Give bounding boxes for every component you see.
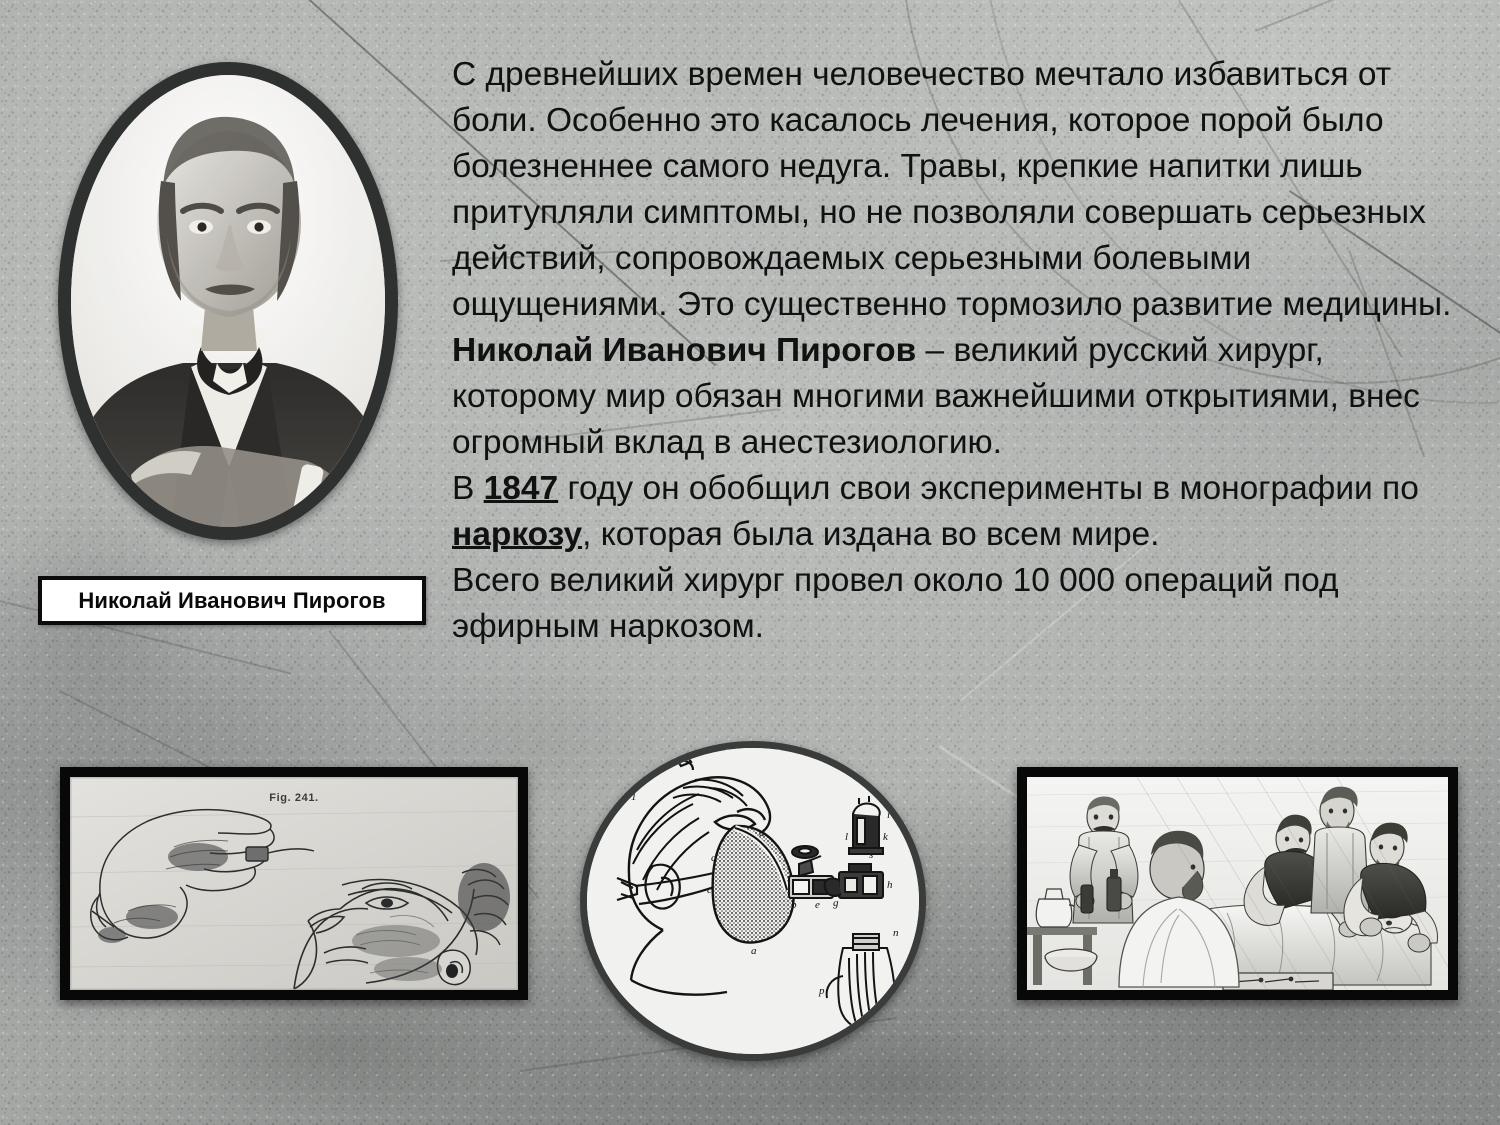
portrait-caption-box: Николай Иванович Пирогов xyxy=(38,576,426,625)
svg-text:p: p xyxy=(818,985,825,997)
svg-text:e: e xyxy=(815,899,820,911)
svg-text:a: a xyxy=(751,945,757,957)
portrait-photo-icon xyxy=(71,75,385,527)
svg-text:c: c xyxy=(707,884,712,896)
narcosis-highlight: наркозу xyxy=(452,516,582,553)
portrait-caption-label: Николай Иванович Пирогов xyxy=(78,588,385,614)
year-1847-highlight: 1847 xyxy=(484,470,559,507)
paragraph-3-after: , которая была издана во всем мире. xyxy=(582,516,1159,553)
figure-right-canvas xyxy=(1027,777,1448,990)
portrait-photo xyxy=(71,75,385,527)
pirogov-name-bold: Николай Иванович Пирогов xyxy=(452,332,916,369)
paragraph-3-middle: году он обобщил свои эксперименты в моно… xyxy=(558,470,1419,507)
svg-text:Fig. 241.: Fig. 241. xyxy=(269,792,318,804)
svg-text:n: n xyxy=(893,927,899,939)
figure-ether-drop-administration: Fig. 241. xyxy=(60,767,528,1000)
svg-text:d: d xyxy=(759,827,765,839)
svg-text:g: g xyxy=(833,897,839,909)
svg-text:h: h xyxy=(887,879,893,891)
figure-oval-canvas: d c c a b e g h i l k s n p 1 xyxy=(587,748,919,1054)
svg-text:b: b xyxy=(791,899,797,911)
paragraph-3-before: В xyxy=(452,470,484,507)
svg-text:s: s xyxy=(869,849,873,861)
anesthesia-mask-diagram-oval-icon: d c c a b e g h i l k s n p 1 xyxy=(587,748,919,1054)
svg-text:l: l xyxy=(845,831,848,843)
slide-body-text: С древнейших времен человечество мечтало… xyxy=(452,52,1464,650)
paragraph-1: С древнейших времен человечество мечтало… xyxy=(452,52,1464,328)
svg-text:c: c xyxy=(711,852,716,864)
svg-text:i: i xyxy=(887,809,890,821)
ether-drop-administration-engraving-icon: Fig. 241. xyxy=(70,777,518,990)
historic-surgery-operation-engraving-icon xyxy=(1027,777,1448,990)
figure-anesthesia-mask-diagram: d c c a b e g h i l k s n p 1 xyxy=(580,741,926,1061)
paragraph-4: Всего великий хирург провел около 10 000… xyxy=(452,558,1464,650)
slide-canvas: Николай Иванович Пирогов С древнейших вр… xyxy=(0,0,1500,1125)
svg-text:1: 1 xyxy=(631,791,637,803)
portrait-frame-pirogov xyxy=(58,62,398,540)
paragraph-3: В 1847 году он обобщил свои эксперименты… xyxy=(452,466,1464,558)
figure-historic-surgery-operation xyxy=(1017,767,1458,1000)
figure-left-canvas: Fig. 241. xyxy=(70,777,518,990)
paragraph-2: Николай Иванович Пирогов – великий русск… xyxy=(452,328,1464,466)
